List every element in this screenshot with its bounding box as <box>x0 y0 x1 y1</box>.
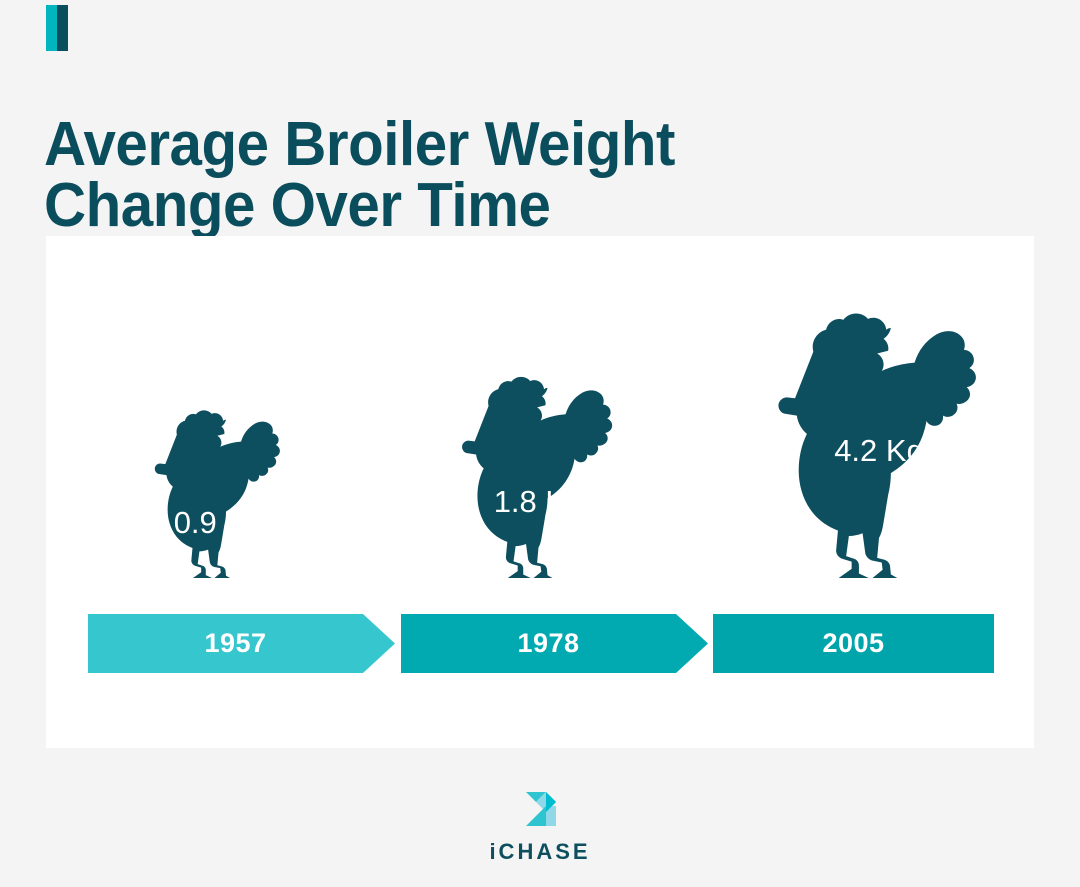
year-bar-group: 1957 1978 2005 <box>88 614 992 673</box>
page-title: Average Broiler Weight Change Over Time <box>44 114 890 237</box>
year-bar-2005[interactable]: 2005 <box>713 614 994 673</box>
chicken-silhouette-icon <box>734 286 1024 578</box>
chicken-slot-1978: 1.8 Kg <box>426 356 651 578</box>
year-bar-label: 2005 <box>822 628 884 659</box>
accent-bar-left-half <box>46 5 57 51</box>
chicken-silhouette-icon <box>426 356 651 578</box>
chicken-slot-2005: 4.2 Kg <box>734 286 1024 578</box>
accent-bar-right-half <box>57 5 68 51</box>
chart-card: 0.9 Kg 1.8 Kg 4.2 Kg 1957 1978 2005 <box>46 236 1034 748</box>
chicken-slot-1957: 0.9 Kg <box>131 393 306 578</box>
chicken-figure-1957: 0.9 Kg <box>131 393 306 578</box>
ichase-logo-mark-icon <box>512 786 568 832</box>
year-bar-label: 1957 <box>204 628 266 659</box>
chicken-silhouette-icon <box>131 393 306 578</box>
accent-bar <box>46 5 68 51</box>
year-bar-1957[interactable]: 1957 <box>88 614 395 673</box>
year-bar-1978[interactable]: 1978 <box>401 614 708 673</box>
year-bar-label: 1978 <box>517 628 579 659</box>
chicken-figure-1978: 1.8 Kg <box>426 356 651 578</box>
ichase-logo: iCHASE <box>0 786 1080 865</box>
ichase-logo-text: iCHASE <box>489 839 590 865</box>
chicken-figure-2005: 4.2 Kg <box>734 286 1024 578</box>
